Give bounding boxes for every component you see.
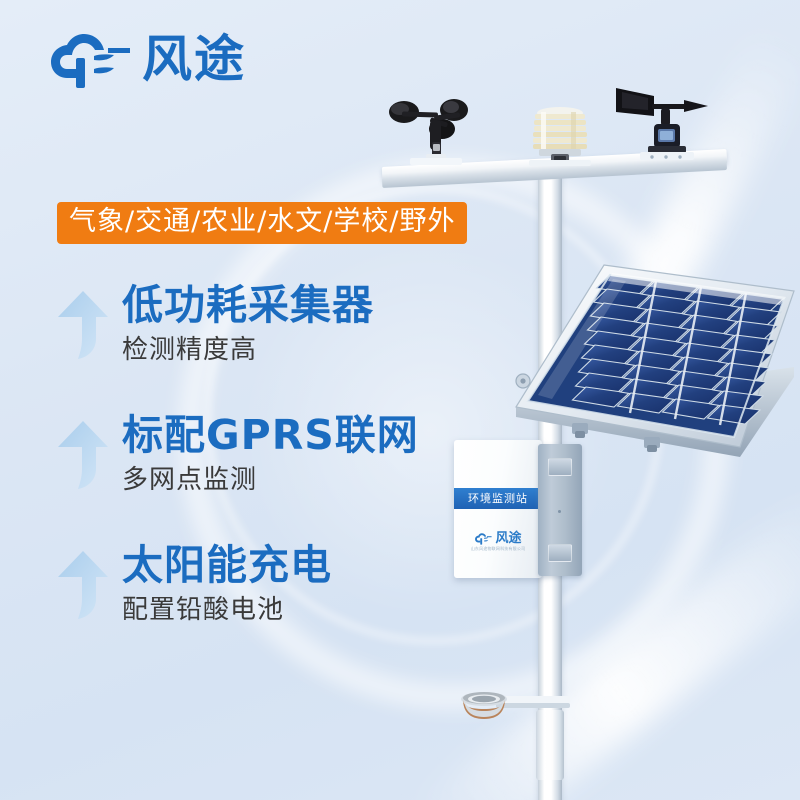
weather-station-product: 环境监测站 风途 山东风途物联网科技有限公司 [330,70,800,800]
marketing-poster: 风途 气象/交通/农业/水文/学校/野外 低功耗采集器 检测精度高 标配GPRS… [0,0,800,800]
enclosure-label-band: 环境监测站 [454,488,542,509]
enclosure-logo-row: 风途 [474,532,521,545]
feature-title-3: 太阳能充电 [122,543,332,589]
enclosure-body: 环境监测站 风途 山东风途物联网科技有限公司 [454,440,542,578]
solar-panel [508,245,798,465]
up-arrow-icon [56,549,110,621]
enclosure-box: 环境监测站 风途 山东风途物联网科技有限公司 [454,440,566,578]
feature-item-1: 低功耗采集器 检测精度高 [56,283,374,368]
clamp-tab-top [548,458,572,476]
wind-direction-vane [614,82,724,164]
enclosure-company-text: 山东风途物联网科技有限公司 [471,547,526,551]
up-arrow-icon [56,419,110,491]
brand-logo: 风途 [46,28,246,90]
clamp-screw [558,510,561,513]
enclosure-logo-text: 风途 [495,532,521,545]
fengtu-cloud-logo-icon [474,532,492,545]
fengtu-cloud-logo-icon [46,28,132,90]
feature-text-group-3: 太阳能充电 配置铅酸电池 [122,543,332,628]
enclosure-pole-clamp [538,444,582,576]
three-cup-anemometer [382,94,488,168]
clamp-tab-bottom [548,544,572,562]
enclosure-logo-group: 风途 山东风途物联网科技有限公司 [454,532,542,551]
radiation-shield-sensor [525,104,595,166]
up-arrow-icon [56,289,110,361]
enclosure-band-text: 环境监测站 [468,493,528,504]
tipping-bucket-rain-gauge [458,682,578,730]
brand-name: 风途 [142,34,246,84]
feature-item-3: 太阳能充电 配置铅酸电池 [56,543,332,628]
feature-subtitle-3: 配置铅酸电池 [122,594,332,628]
